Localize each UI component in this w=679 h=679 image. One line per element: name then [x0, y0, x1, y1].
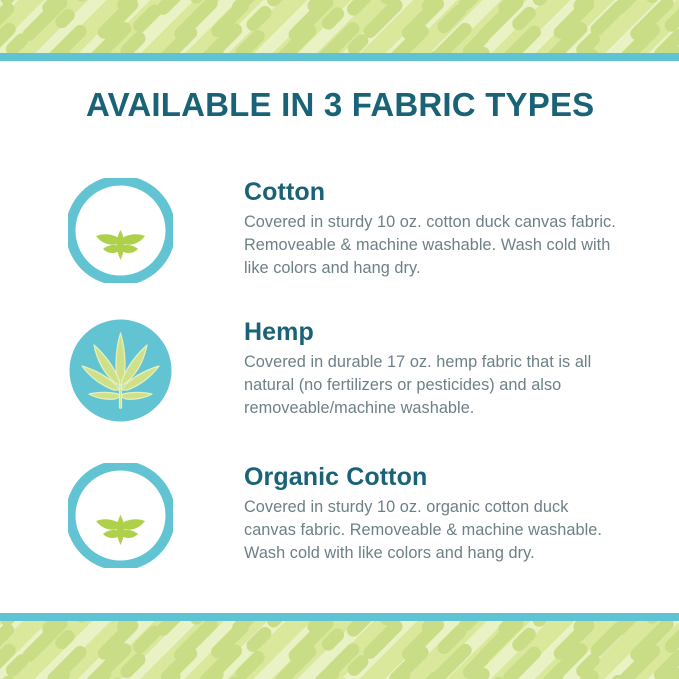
top-band-green-pattern: [0, 0, 679, 54]
organic-cotton-description: Covered in sturdy 10 oz. organic cotton …: [244, 496, 616, 565]
bottom-decorative-band: [0, 613, 679, 679]
cotton-description: Covered in sturdy 10 oz. cotton duck can…: [244, 211, 616, 280]
organic-cotton-heading: Organic Cotton: [244, 463, 644, 491]
organic-cotton-text-block: Organic Cotton Covered in sturdy 10 oz. …: [244, 463, 644, 565]
top-band-diagonal-dashes: [0, 0, 679, 54]
bottom-band-green-pattern: [0, 621, 679, 679]
hemp-text-block: Hemp Covered in durable 17 oz. hemp fabr…: [244, 318, 644, 420]
organic-cotton-boll-icon: [68, 463, 173, 568]
hemp-leaf-icon: [68, 318, 173, 423]
cotton-heading: Cotton: [244, 178, 644, 206]
hemp-heading: Hemp: [244, 318, 644, 346]
hemp-description: Covered in durable 17 oz. hemp fabric th…: [244, 351, 616, 420]
infographic-page: AVAILABLE IN 3 FABRIC TYPES: [0, 0, 679, 679]
top-decorative-band: [0, 0, 679, 61]
top-band-teal-rule: [0, 53, 679, 61]
bottom-band-teal-rule: [0, 613, 679, 621]
bottom-band-diagonal-dashes: [0, 621, 679, 679]
cotton-boll-icon: [68, 178, 173, 283]
cotton-text-block: Cotton Covered in sturdy 10 oz. cotton d…: [244, 178, 644, 280]
page-title: AVAILABLE IN 3 FABRIC TYPES: [86, 86, 594, 124]
